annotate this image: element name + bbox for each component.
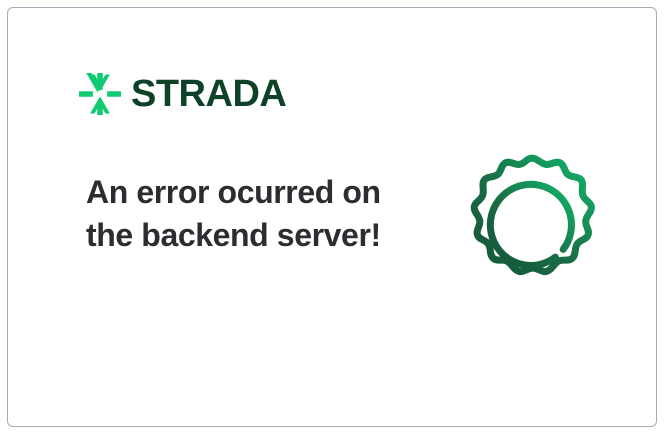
brand-lockup: STRADA: [79, 72, 286, 116]
brand-name: STRADA: [131, 75, 286, 113]
gear-cog-icon: [454, 148, 610, 304]
error-headline: An error ocurred on the backend server!: [86, 171, 386, 256]
screen: STRADA An error ocurred on the backend s…: [0, 0, 666, 436]
strada-asterisk-icon: [79, 73, 121, 115]
error-card: STRADA An error ocurred on the backend s…: [7, 7, 657, 427]
